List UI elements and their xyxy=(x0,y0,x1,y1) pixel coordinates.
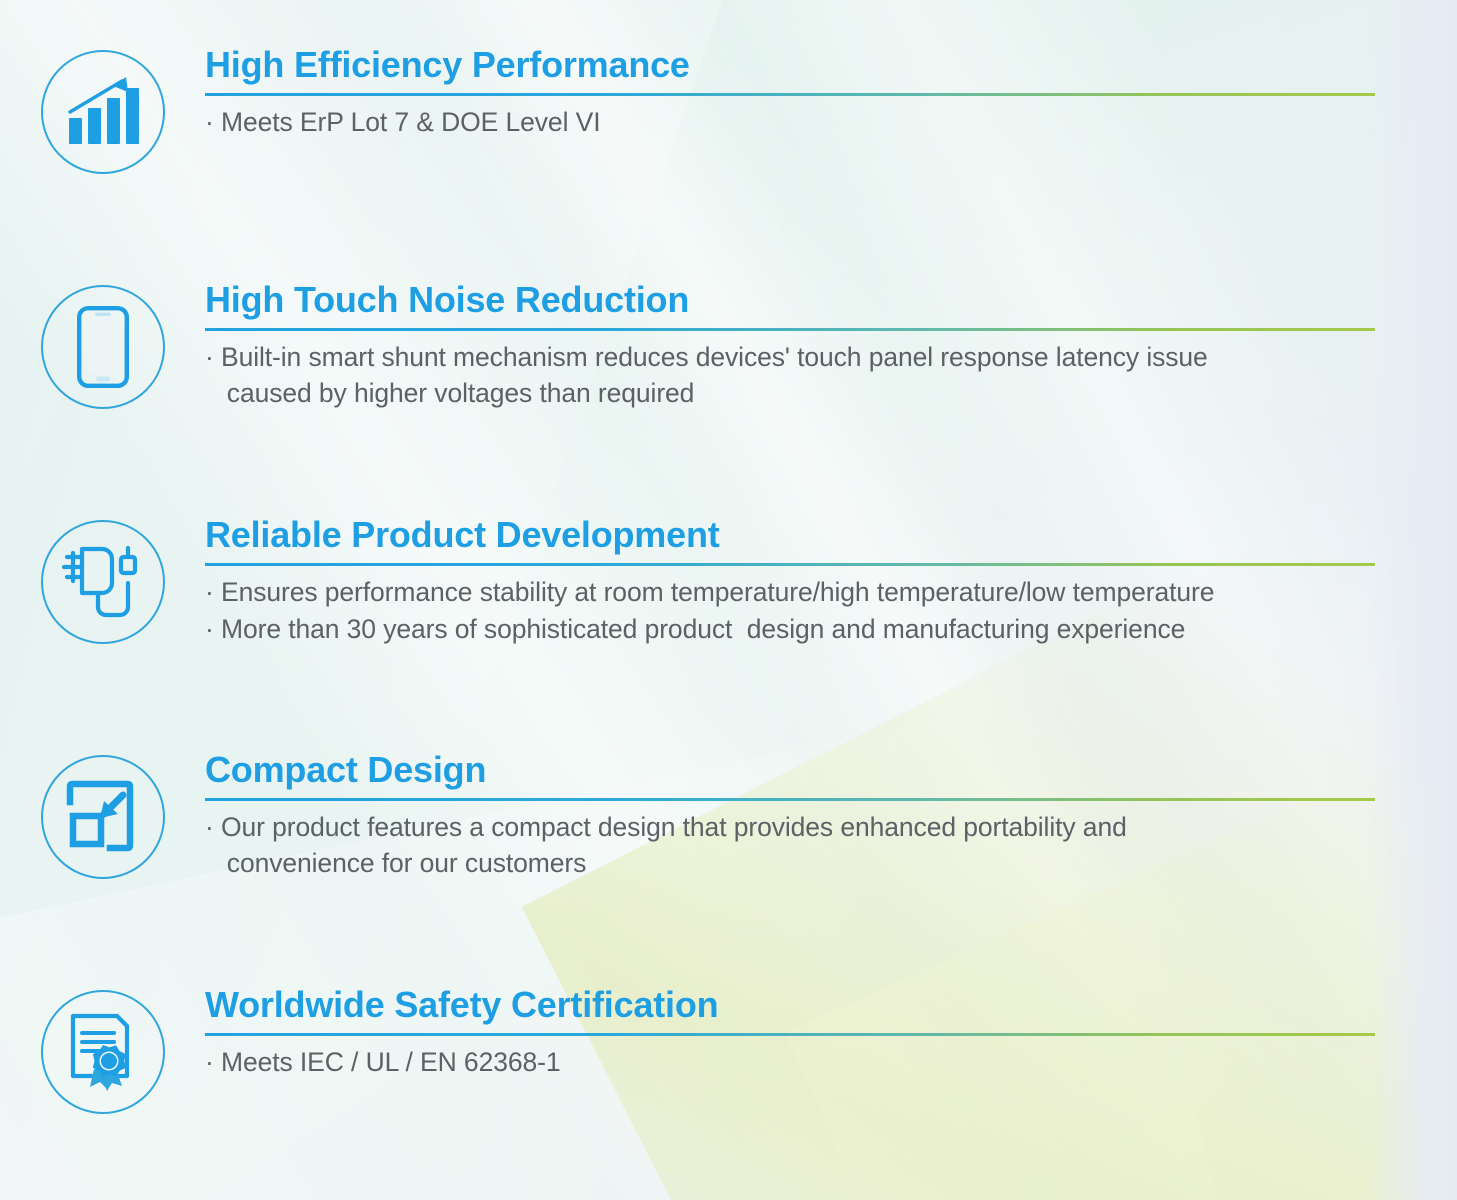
feature-bullets: · Our product features a compact design … xyxy=(205,810,1375,880)
smartphone-icon xyxy=(41,285,165,409)
feature-icon-slot xyxy=(0,749,205,879)
feature-body: High Touch Noise Reduction · Built-in sm… xyxy=(205,279,1457,411)
feature-icon-slot xyxy=(0,514,205,644)
feature-divider xyxy=(205,1033,1375,1036)
feature-bullets: · Ensures performance stability at room … xyxy=(205,575,1375,646)
feature-title: Compact Design xyxy=(205,749,1375,791)
feature-bullet: · Ensures performance stability at room … xyxy=(205,575,1375,610)
feature-divider xyxy=(205,93,1375,96)
feature-list-page: High Efficiency Performance · Meets ErP … xyxy=(0,0,1457,1200)
feature-divider xyxy=(205,328,1375,331)
bar-chart-growth-icon xyxy=(41,50,165,174)
feature-title: Worldwide Safety Certification xyxy=(205,984,1375,1026)
feature-icon-slot xyxy=(0,984,205,1114)
feature-body: Reliable Product Development · Ensures p… xyxy=(205,514,1457,647)
feature-body: Compact Design · Our product features a … xyxy=(205,749,1457,881)
feature-title: High Efficiency Performance xyxy=(205,44,1375,86)
feature-bullets: · Built-in smart shunt mechanism reduces… xyxy=(205,340,1375,410)
feature-bullet: · Our product features a compact design … xyxy=(205,810,1375,880)
feature-item-reliable-product-development: Reliable Product Development · Ensures p… xyxy=(0,514,1457,647)
feature-divider xyxy=(205,798,1375,801)
feature-bullet: · More than 30 years of sophisticated pr… xyxy=(205,612,1375,647)
feature-bullet: · Meets ErP Lot 7 & DOE Level VI xyxy=(205,105,1375,140)
background-band-lime-secondary xyxy=(785,634,1457,1200)
feature-body: Worldwide Safety Certification · Meets I… xyxy=(205,984,1457,1081)
power-adapter-icon xyxy=(41,520,165,644)
certificate-award-icon xyxy=(41,990,165,1114)
feature-bullets: · Meets IEC / UL / EN 62368-1 xyxy=(205,1045,1375,1080)
feature-title: High Touch Noise Reduction xyxy=(205,279,1375,321)
feature-item-high-efficiency-performance: High Efficiency Performance · Meets ErP … xyxy=(0,44,1457,174)
feature-bullets: · Meets ErP Lot 7 & DOE Level VI xyxy=(205,105,1375,140)
feature-item-compact-design: Compact Design · Our product features a … xyxy=(0,749,1457,881)
feature-body: High Efficiency Performance · Meets ErP … xyxy=(205,44,1457,141)
feature-item-worldwide-safety-certification: Worldwide Safety Certification · Meets I… xyxy=(0,984,1457,1114)
feature-title: Reliable Product Development xyxy=(205,514,1375,556)
feature-icon-slot xyxy=(0,44,205,174)
feature-item-high-touch-noise-reduction: High Touch Noise Reduction · Built-in sm… xyxy=(0,279,1457,411)
feature-icon-slot xyxy=(0,279,205,409)
feature-bullet: · Meets IEC / UL / EN 62368-1 xyxy=(205,1045,1375,1080)
feature-divider xyxy=(205,563,1375,566)
feature-bullet: · Built-in smart shunt mechanism reduces… xyxy=(205,340,1375,410)
compact-resize-icon xyxy=(41,755,165,879)
